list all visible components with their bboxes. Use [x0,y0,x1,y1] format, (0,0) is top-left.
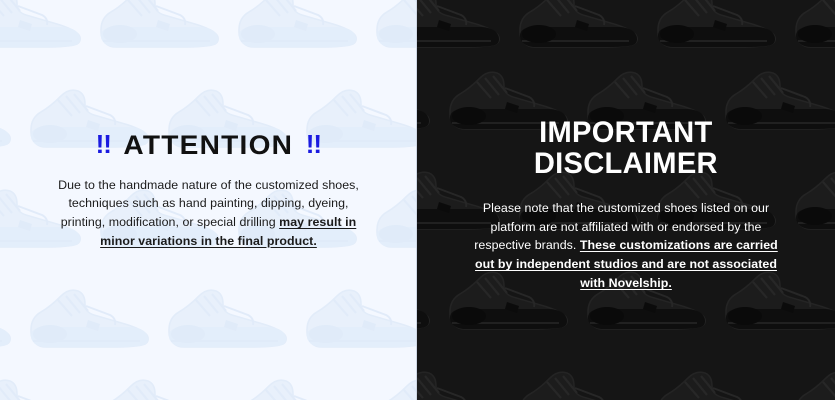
disclaimer-heading-line-2: DISCLAIMER [534,149,718,180]
attention-body: Due to the handmade nature of the custom… [53,176,365,251]
exclamation-left-icon: !! [96,133,111,159]
disclaimer-panel: IMPORTANT DISCLAIMER Please note that th… [417,0,835,400]
disclaimer-heading-line-1: IMPORTANT [534,118,718,149]
attention-panel: !! ATTENTION !! Due to the handmade natu… [0,0,417,400]
disclaimer-heading: IMPORTANT DISCLAIMER [534,118,718,180]
attention-heading: !! ATTENTION !! [96,132,321,160]
panel-divider [416,0,417,400]
attention-content: !! ATTENTION !! Due to the handmade natu… [0,0,417,400]
disclaimer-content: IMPORTANT DISCLAIMER Please note that th… [417,0,835,400]
attention-heading-text: ATTENTION [124,132,294,160]
disclaimer-banner: !! ATTENTION !! Due to the handmade natu… [0,0,835,400]
disclaimer-body: Please note that the customized shoes li… [465,199,787,293]
exclamation-right-icon: !! [306,133,321,159]
